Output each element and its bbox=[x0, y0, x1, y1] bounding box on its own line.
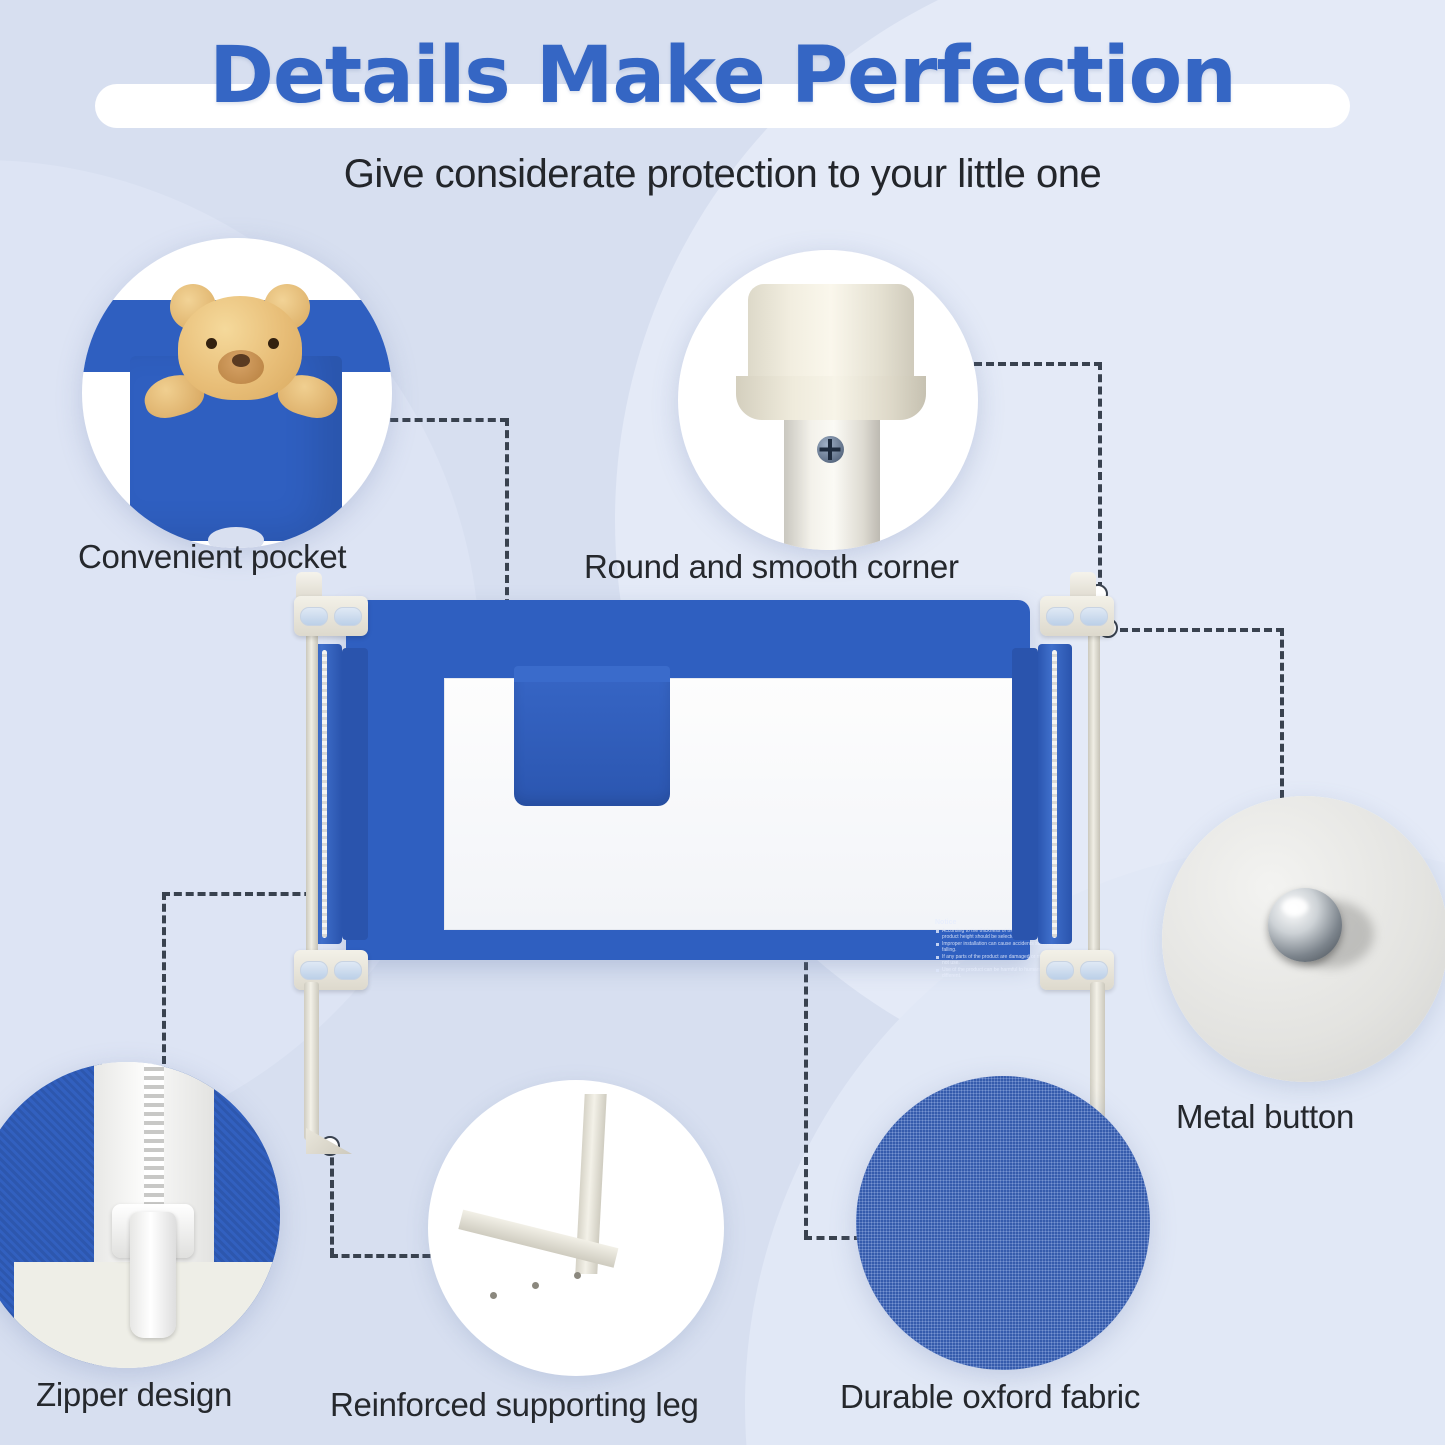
page-title: Details Make Perfection bbox=[0, 22, 1445, 130]
metal-button-icon[interactable] bbox=[1080, 961, 1108, 980]
feature-label-convenient-pocket: Convenient pocket bbox=[78, 538, 346, 576]
connector-leg-horizontal bbox=[330, 1254, 442, 1258]
connector-button-vertical bbox=[1280, 628, 1284, 798]
connector-corner-vertical bbox=[1098, 362, 1102, 590]
feature-circle-supporting-leg bbox=[428, 1080, 724, 1376]
oxford-weave-swatch bbox=[856, 1076, 1150, 1370]
metal-button-icon[interactable] bbox=[334, 961, 362, 980]
rail-fabric-frame: Notice According to the thickness of the… bbox=[346, 600, 1030, 960]
teddy-nose-icon bbox=[232, 354, 250, 367]
support-tube-right bbox=[1088, 634, 1100, 952]
feature-circle-metal-button bbox=[1162, 796, 1445, 1082]
cap-collar-ring bbox=[736, 376, 926, 420]
feature-circle-round-smooth-corner bbox=[678, 250, 978, 550]
connector-fabric-horizontal bbox=[804, 1236, 862, 1240]
page-subtitle: Give considerate protection to your litt… bbox=[0, 152, 1445, 197]
connector-button-horizontal bbox=[1108, 628, 1284, 632]
feature-circle-oxford-fabric bbox=[856, 1076, 1150, 1370]
metal-button-icon[interactable] bbox=[334, 607, 362, 626]
supporting-leg-left bbox=[304, 982, 319, 1140]
leg-hole-icon bbox=[532, 1282, 539, 1289]
rail-post-inner-left bbox=[342, 648, 368, 940]
feature-label-zipper-design: Zipper design bbox=[36, 1376, 232, 1414]
screw-icon bbox=[817, 436, 844, 463]
metal-button-icon[interactable] bbox=[300, 961, 328, 980]
adjust-bracket-top-left[interactable] bbox=[294, 596, 368, 636]
rail-post-inner-right bbox=[1012, 648, 1038, 940]
leg-hole-icon bbox=[490, 1292, 497, 1299]
rail-storage-pocket bbox=[514, 666, 670, 806]
post-zipper-right bbox=[1052, 650, 1057, 938]
header: Details Make Perfection bbox=[0, 22, 1445, 132]
zipper-pull-icon bbox=[130, 1212, 176, 1338]
adjust-bracket-top-right[interactable] bbox=[1040, 596, 1114, 636]
infographic-canvas: Details Make Perfection Give considerate… bbox=[0, 0, 1445, 1445]
teddy-eye-icon bbox=[206, 338, 217, 349]
feature-label-round-smooth-corner: Round and smooth corner bbox=[584, 548, 959, 586]
feature-label-metal-button: Metal button bbox=[1176, 1098, 1354, 1136]
feature-label-supporting-leg: Reinforced supporting leg bbox=[330, 1386, 699, 1424]
rail-post-right bbox=[1038, 644, 1072, 944]
feature-label-oxford-fabric: Durable oxford fabric bbox=[840, 1378, 1140, 1416]
connector-zipper-vertical bbox=[162, 892, 166, 1064]
metal-button-icon[interactable] bbox=[1080, 607, 1108, 626]
teddy-bear-head bbox=[178, 296, 302, 400]
product-bed-rail: Notice According to the thickness of the… bbox=[286, 586, 1106, 1146]
pocket-lip bbox=[514, 666, 670, 682]
metal-button-icon[interactable] bbox=[300, 607, 328, 626]
feature-circle-zipper-design bbox=[0, 1062, 280, 1368]
feature-circle-convenient-pocket bbox=[82, 238, 392, 548]
leg-hole-icon bbox=[574, 1272, 581, 1279]
support-tube-left bbox=[306, 634, 318, 952]
connector-pocket-horizontal bbox=[378, 418, 508, 422]
metal-button-icon[interactable] bbox=[1046, 961, 1074, 980]
connector-corner-horizontal bbox=[962, 362, 1102, 366]
metal-button-icon[interactable] bbox=[1046, 607, 1074, 626]
connector-leg-vertical bbox=[330, 1146, 334, 1256]
post-zipper-left bbox=[322, 650, 327, 938]
teddy-eye-icon bbox=[268, 338, 279, 349]
metal-button-icon bbox=[1268, 888, 1342, 962]
